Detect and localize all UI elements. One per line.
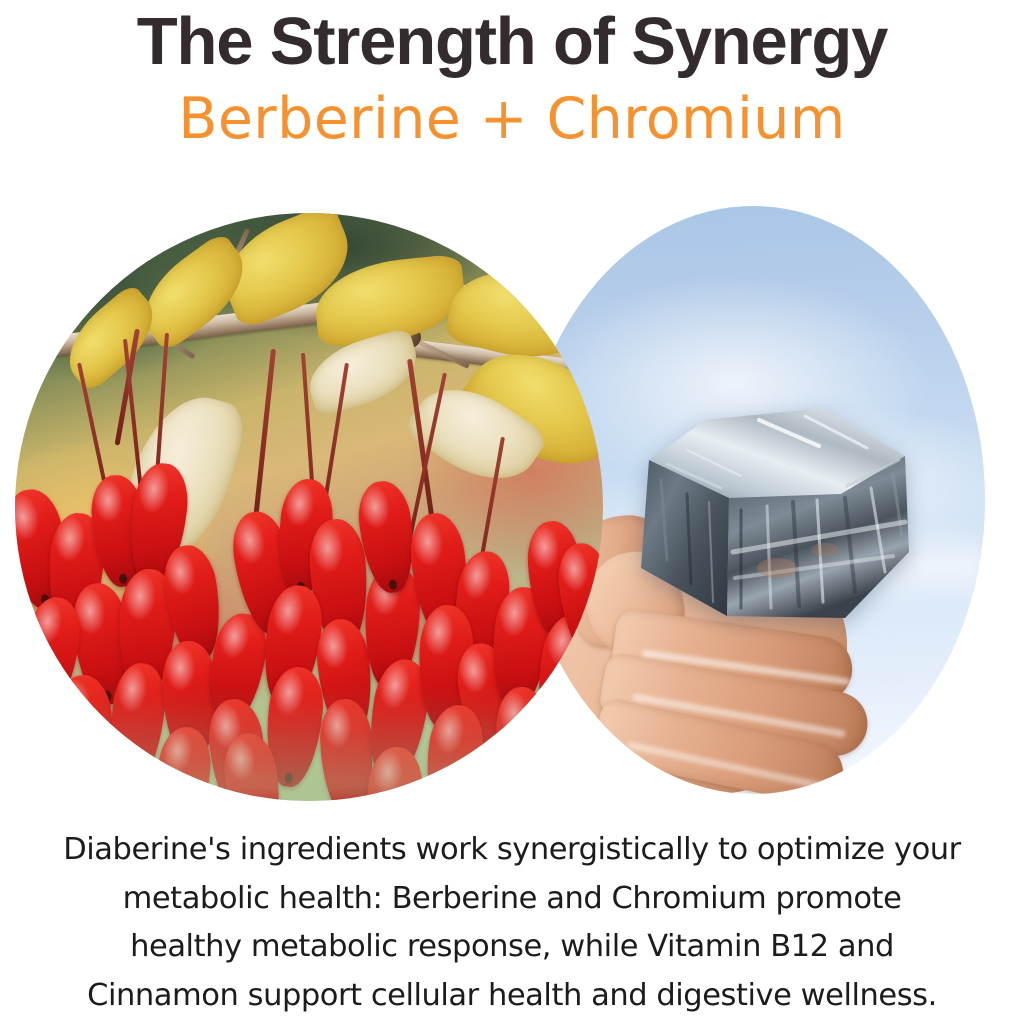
header-block: The Strength of Synergy Berberine + Chro… [0, 0, 1024, 154]
leaf-6 [301, 327, 426, 417]
description-line-3: healthy metabolic response, while Vitami… [10, 923, 1014, 972]
image-collage [0, 195, 1024, 805]
description-line-1: Diaberine's ingredients work synergistic… [10, 826, 1014, 875]
page-subtitle: Berberine + Chromium [0, 84, 1024, 154]
description-line-4: Cinnamon support cellular health and dig… [10, 972, 1014, 1021]
page-title: The Strength of Synergy [0, 0, 1024, 84]
chromium-chunk [609, 402, 925, 634]
description-line-2: metabolic health: Berberine and Chromium… [10, 875, 1014, 924]
foreground-blur [15, 691, 603, 801]
berberine-photo [15, 213, 603, 801]
stalk-4 [253, 349, 276, 525]
chromium-chunk-svg [609, 402, 925, 634]
infographic-page: The Strength of Synergy Berberine + Chro… [0, 0, 1024, 1022]
description-paragraph: Diaberine's ingredients work synergistic… [0, 826, 1024, 1020]
photo-seam [608, 206, 610, 794]
